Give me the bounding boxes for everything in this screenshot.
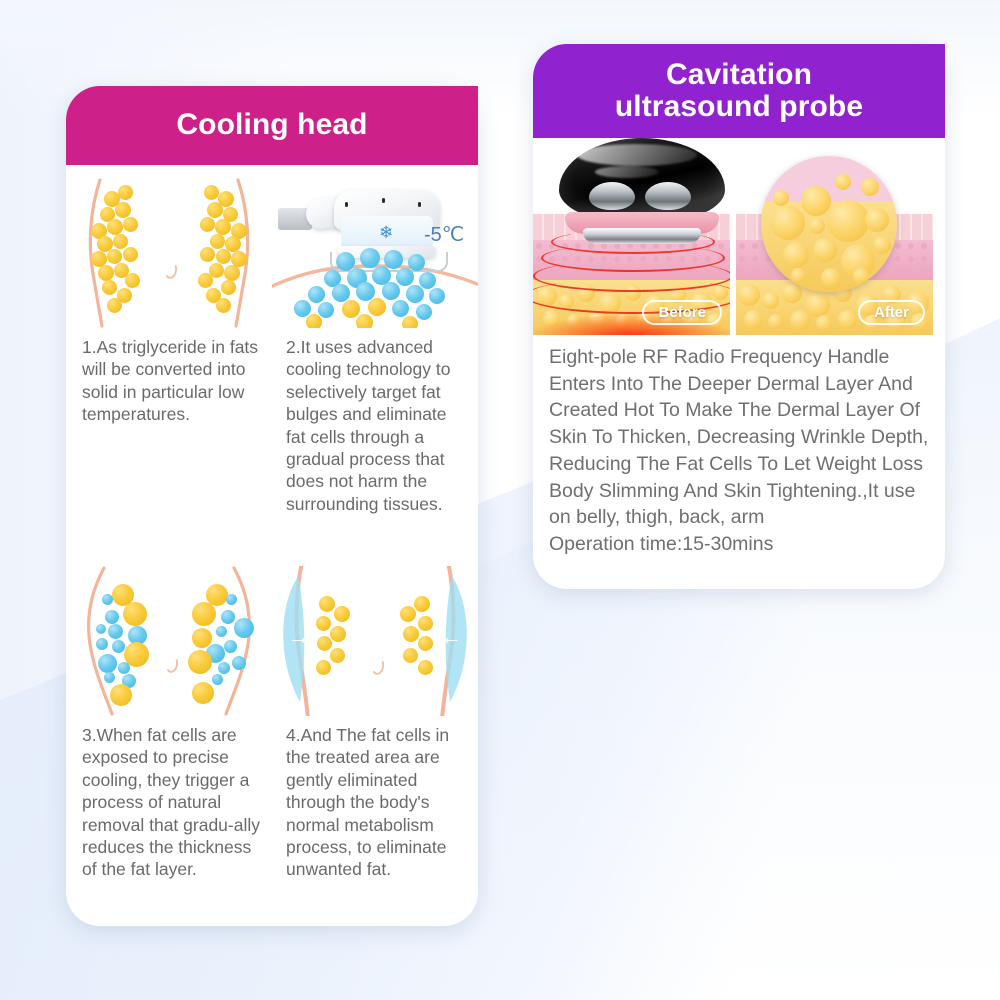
cavitation-title-line2: ultrasound probe <box>615 91 863 123</box>
illustration-row-bottom: → ← <box>66 566 478 716</box>
arrow-left-icon: ← <box>440 626 462 648</box>
cavitation-description-block: Eight-pole RF Radio Frequency Handle Ent… <box>533 344 945 558</box>
magnified-fat-cells-circle <box>761 156 897 292</box>
cooled-fat-cells-illustration <box>66 566 272 716</box>
cooling-head-header: Cooling head <box>66 86 478 165</box>
step-2-text: 2.It uses advanced cooling technology to… <box>272 336 478 515</box>
cavitation-probe-photo: Before <box>533 138 945 335</box>
cavitation-title-line1: Cavitation <box>615 59 863 91</box>
arrow-right-icon: → <box>288 626 310 648</box>
step-4-text: 4.And The fat cells in the treated area … <box>272 724 478 881</box>
snowflake-icon: ❄ <box>379 224 393 241</box>
steps-row-bottom: 3.When fat cells are exposed to precise … <box>66 724 478 881</box>
cavitation-probe-header: Cavitation ultrasound probe <box>533 44 945 138</box>
fat-reduction-arrows-illustration: → ← <box>272 566 478 716</box>
after-badge: After <box>858 300 925 325</box>
temperature-label: -5℃ <box>424 222 464 247</box>
step-1-text: 1.As triglyceride in fats will be conver… <box>66 336 272 515</box>
cavitation-probe-card: Cavitation ultrasound probe <box>533 44 945 589</box>
cavitation-probe-device <box>549 138 729 240</box>
cavitation-description: Eight-pole RF Radio Frequency Handle Ent… <box>549 346 928 528</box>
cooling-handpiece-illustration: ❄ -5℃ <box>272 178 478 328</box>
operation-time: Operation time:15-30mins <box>549 533 773 555</box>
cooling-head-title: Cooling head <box>176 109 367 141</box>
cooling-head-card: Cooling head <box>66 86 478 926</box>
fat-cells-in-waist-illustration <box>66 178 272 328</box>
steps-row-top: 1.As triglyceride in fats will be conver… <box>66 336 478 515</box>
illustration-row-top: ❄ -5℃ <box>66 178 478 328</box>
before-badge: Before <box>642 300 722 325</box>
step-3-text: 3.When fat cells are exposed to precise … <box>66 724 272 881</box>
